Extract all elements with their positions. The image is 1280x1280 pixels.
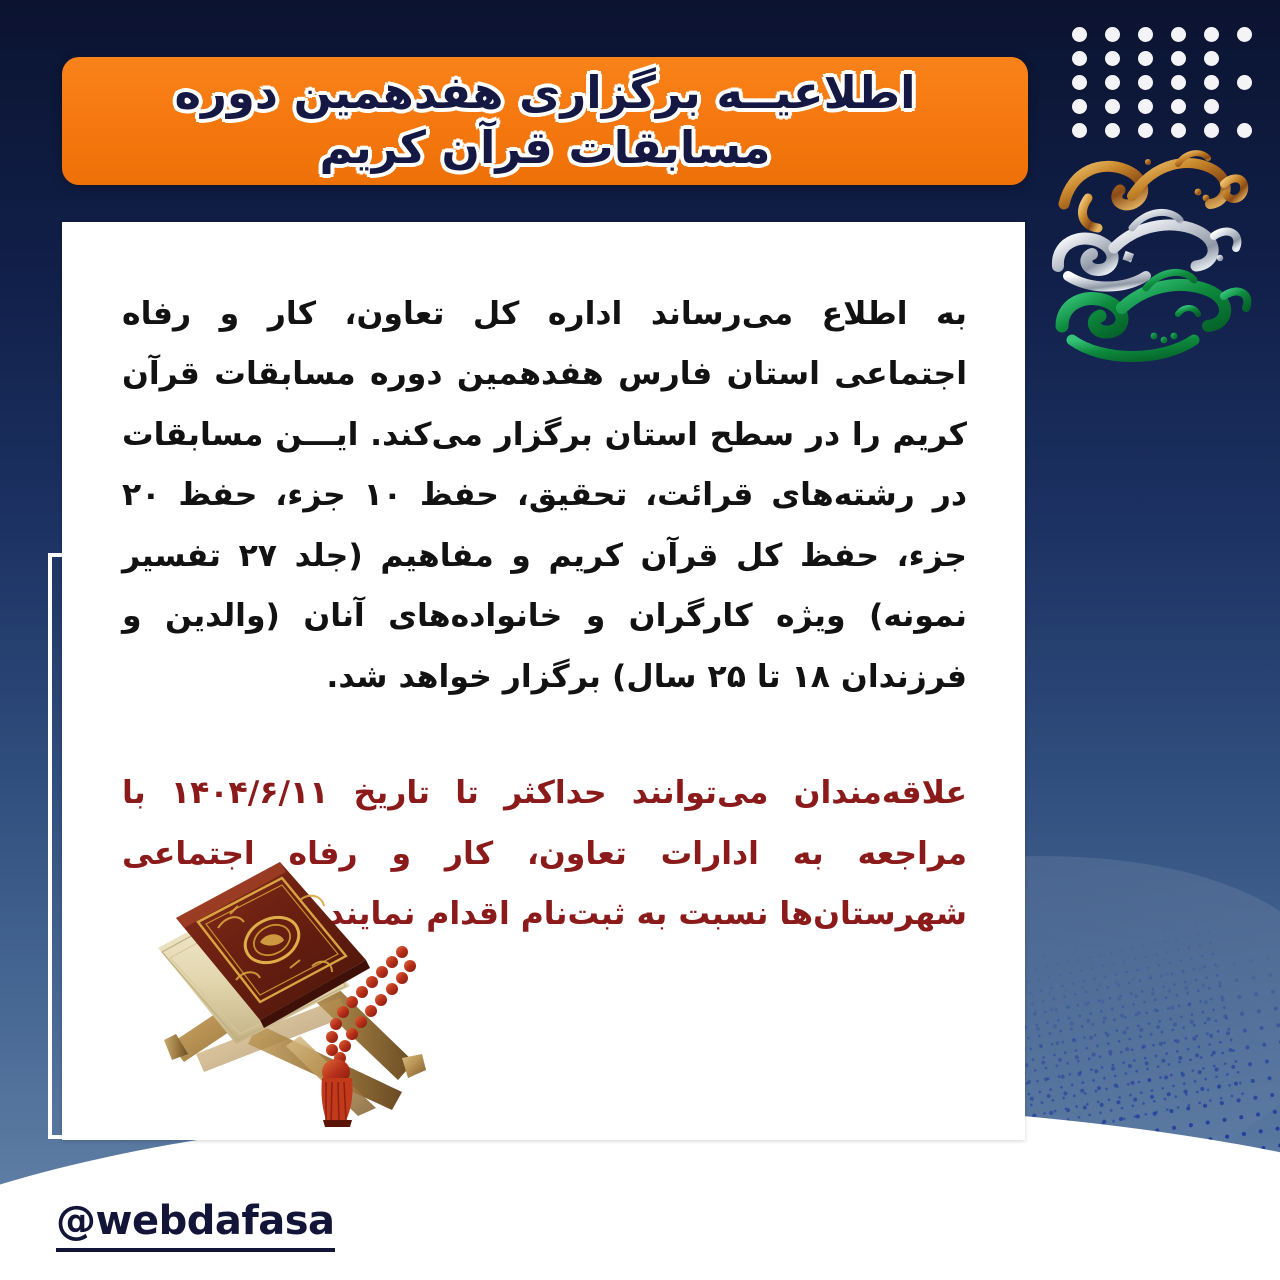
dot: [1072, 27, 1087, 42]
dot-row: [1072, 118, 1252, 142]
dot: [1072, 51, 1087, 66]
dot: [1072, 99, 1087, 114]
dot: [1072, 123, 1087, 138]
dot: [1105, 51, 1120, 66]
dot: [1237, 123, 1252, 138]
social-handle[interactable]: @webdafasa: [56, 1198, 335, 1252]
calligraphy-logo-icon: [1028, 140, 1268, 375]
dot: [1138, 27, 1153, 42]
announcement-body: به اطلاع می‌رساند اداره کل تعاون، کار و …: [122, 284, 967, 945]
dot: [1237, 27, 1252, 42]
dot-row: [1072, 22, 1252, 46]
dot: [1138, 51, 1153, 66]
title-banner: اطلاعیــه برگزاری هفدهمین دوره مسابقات ق…: [62, 57, 1028, 185]
dot: [1204, 99, 1219, 114]
poster-canvas: اطلاعیــه برگزاری هفدهمین دوره مسابقات ق…: [0, 0, 1280, 1280]
dot: [1204, 75, 1219, 90]
dot: [1204, 27, 1219, 42]
dot-grid-decoration: [1072, 22, 1252, 142]
dot: [1105, 75, 1120, 90]
dot-row: [1072, 46, 1252, 70]
quran-on-rehal-illustration: [140, 848, 430, 1130]
dot: [1171, 123, 1186, 138]
dot: [1204, 123, 1219, 138]
dot: [1138, 99, 1153, 114]
content-panel: به اطلاع می‌رساند اداره کل تعاون، کار و …: [62, 222, 1025, 1140]
announcement-intro-paragraph: به اطلاع می‌رساند اداره کل تعاون، کار و …: [122, 284, 967, 707]
dot-row: [1072, 70, 1252, 94]
dot: [1105, 99, 1120, 114]
dot: [1105, 123, 1120, 138]
dot: [1105, 27, 1120, 42]
dot-row: [1072, 94, 1252, 118]
dot: [1204, 51, 1219, 66]
dot: [1171, 51, 1186, 66]
dot: [1138, 75, 1153, 90]
dot: [1171, 99, 1186, 114]
dot: [1171, 75, 1186, 90]
dot: [1072, 75, 1087, 90]
dot: [1171, 27, 1186, 42]
page-title: اطلاعیــه برگزاری هفدهمین دوره مسابقات ق…: [88, 66, 1002, 176]
dot: [1138, 123, 1153, 138]
dot: [1237, 75, 1252, 90]
